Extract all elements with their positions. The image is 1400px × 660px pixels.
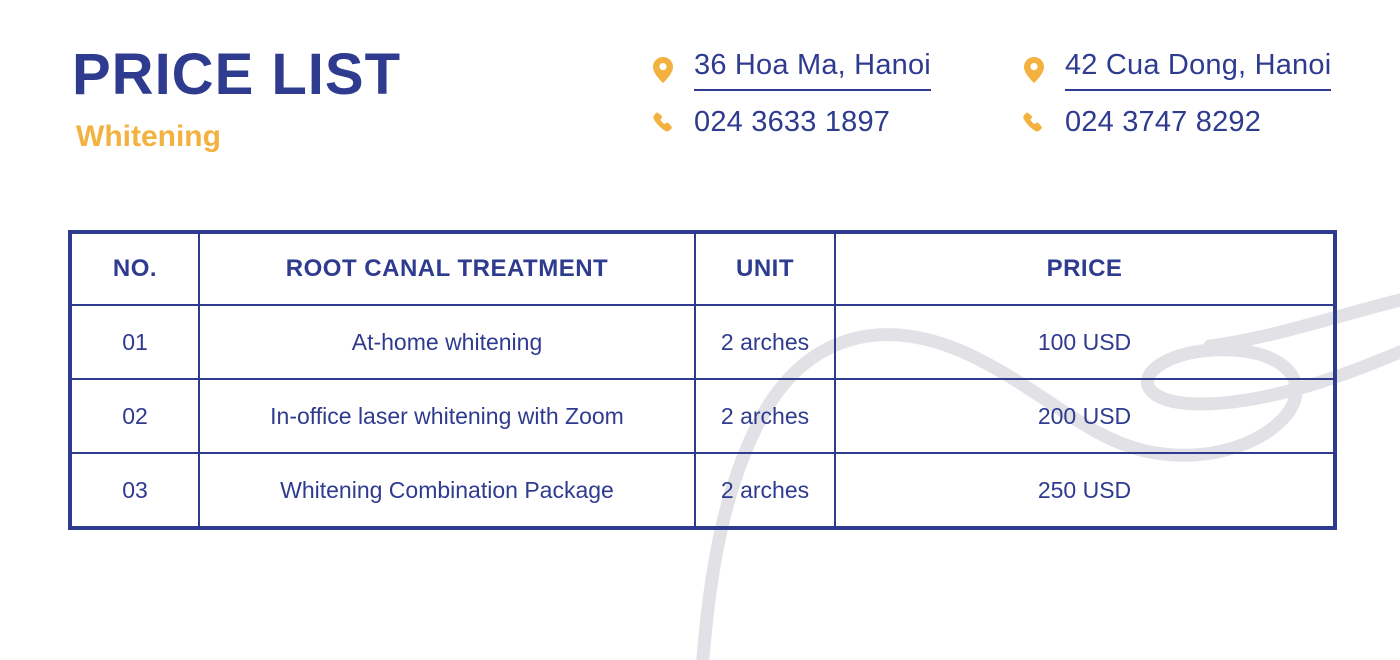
cell-no: 02 [71,379,199,453]
contact-address-row-2[interactable]: 42 Cua Dong, Hanoi [1021,44,1331,96]
contact-address-2: 42 Cua Dong, Hanoi [1065,49,1331,91]
contact-phone-1: 024 3633 1897 [694,106,890,139]
contact-phone-2: 024 3747 8292 [1065,106,1261,139]
cell-treatment: Whitening Combination Package [199,453,695,527]
page-title: PRICE LIST [72,46,401,104]
table-row: 01 At-home whitening 2 arches 100 USD [71,305,1334,379]
table-row: 03 Whitening Combination Package 2 arche… [71,453,1334,527]
price-table: NO. ROOT CANAL TREATMENT UNIT PRICE 01 A… [70,232,1335,528]
contact-phone-row-1[interactable]: 024 3633 1897 [650,96,931,148]
page-subtitle: Whitening [76,122,401,152]
location-pin-icon [650,57,676,83]
price-list-page: PRICE LIST Whitening 36 Hoa Ma, Hanoi [0,0,1400,660]
price-table-head: NO. ROOT CANAL TREATMENT UNIT PRICE [71,233,1334,305]
title-block: PRICE LIST Whitening [72,46,401,152]
price-table-body: 01 At-home whitening 2 arches 100 USD 02… [71,305,1334,527]
price-table-wrapper: NO. ROOT CANAL TREATMENT UNIT PRICE 01 A… [68,230,1337,530]
contact-column-2: 42 Cua Dong, Hanoi 024 3747 8292 [1021,44,1331,148]
cell-no: 03 [71,453,199,527]
cell-treatment: At-home whitening [199,305,695,379]
phone-icon [650,111,676,134]
contact-address-row-1[interactable]: 36 Hoa Ma, Hanoi [650,44,931,96]
contact-column-1: 36 Hoa Ma, Hanoi 024 3633 1897 [650,44,931,148]
cell-price: 100 USD [835,305,1334,379]
page-header: PRICE LIST Whitening 36 Hoa Ma, Hanoi [0,0,1400,200]
contact-info-group: 36 Hoa Ma, Hanoi 024 3633 1897 [650,44,1331,148]
cell-no: 01 [71,305,199,379]
location-pin-icon [1021,57,1047,83]
phone-icon [1021,111,1047,134]
contact-address-1: 36 Hoa Ma, Hanoi [694,49,931,91]
header-no: NO. [71,233,199,305]
cell-price: 200 USD [835,379,1334,453]
cell-price: 250 USD [835,453,1334,527]
header-unit: UNIT [695,233,835,305]
header-price: PRICE [835,233,1334,305]
table-header-row: NO. ROOT CANAL TREATMENT UNIT PRICE [71,233,1334,305]
cell-unit: 2 arches [695,305,835,379]
cell-unit: 2 arches [695,453,835,527]
table-row: 02 In-office laser whitening with Zoom 2… [71,379,1334,453]
header-treatment: ROOT CANAL TREATMENT [199,233,695,305]
contact-phone-row-2[interactable]: 024 3747 8292 [1021,96,1331,148]
cell-unit: 2 arches [695,379,835,453]
cell-treatment: In-office laser whitening with Zoom [199,379,695,453]
page-footer: navii DENTAL CARE www.navii.vn [0,540,1400,660]
